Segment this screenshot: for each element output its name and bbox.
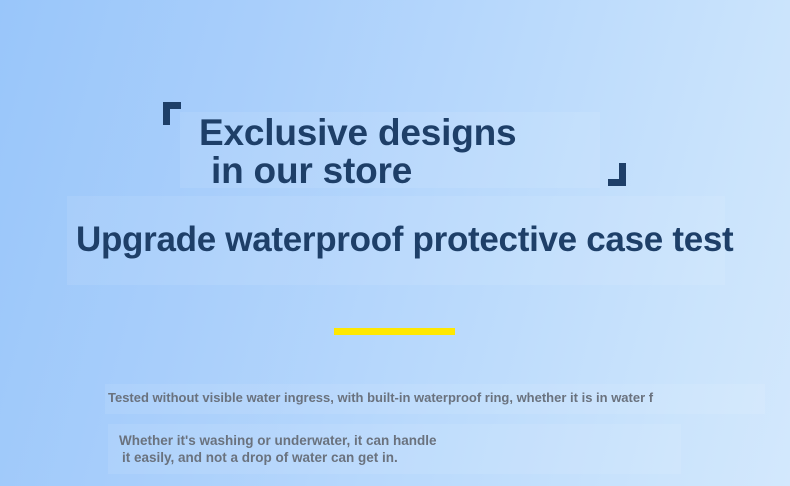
eyebrow-line-2: in our store [199,152,516,190]
feature-subtext: Tested without visible water ingress, wi… [108,389,653,407]
bracket-arm-vertical [163,102,170,125]
promo-banner: Exclusive designsin our store Upgrade wa… [0,0,790,486]
corner-bracket-top-left-icon [163,102,181,125]
body-copy: Whether it's washing or underwater, it c… [119,432,437,466]
accent-divider [334,328,455,335]
eyebrow-heading: Exclusive designsin our store [199,114,516,190]
page-title: Upgrade waterproof protective case test [76,217,733,263]
bracket-arm-horizontal [608,179,626,186]
bracket-arm-vertical [619,163,626,186]
body-copy-line-1: Whether it's washing or underwater, it c… [119,433,437,448]
body-copy-line-2: it easily, and not a drop of water can g… [119,449,437,466]
bracket-arm-horizontal [163,102,181,109]
eyebrow-line-1: Exclusive designs [199,112,516,153]
corner-bracket-bottom-right-icon [608,163,626,186]
